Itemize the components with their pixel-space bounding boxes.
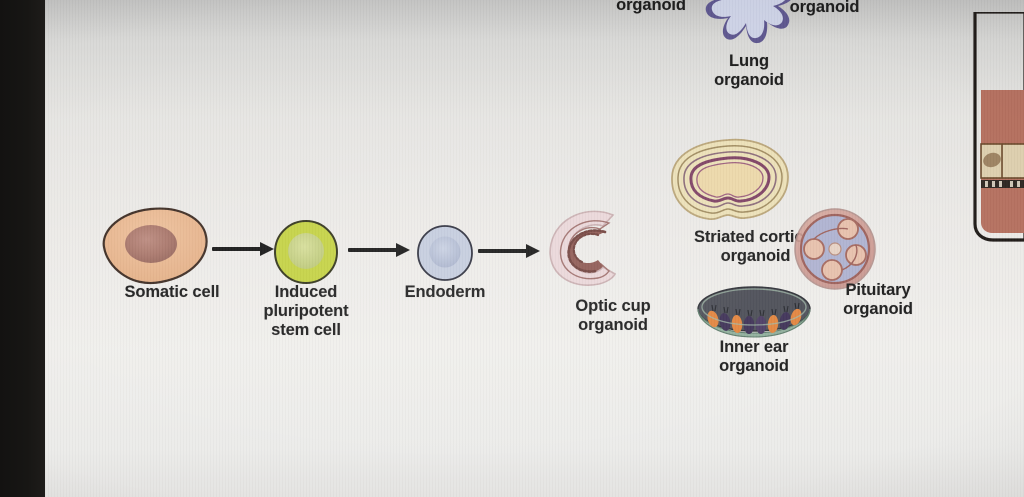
screenshot-root: organoid intestinal organoid Lung organo… [0, 0, 1024, 497]
endoderm-label: Endoderm [382, 283, 508, 302]
ipsc-label: Induced pluripotent stem cell [248, 283, 364, 340]
somatic-cell-icon [104, 209, 207, 283]
arrow-ipsc-to-endoderm [348, 243, 410, 257]
ipsc-figure [271, 217, 341, 287]
arrow-shaft [212, 247, 261, 251]
arrow-head [396, 243, 410, 257]
lung-organoid-icon [706, 0, 794, 43]
endoderm-icon [418, 226, 472, 280]
arrow-shaft [478, 249, 527, 253]
partial-organoid-label: organoid [596, 0, 706, 15]
striated-cortical-organoid-figure [665, 136, 795, 228]
somatic-cell-label: Somatic cell [92, 283, 252, 302]
arrow-head [526, 244, 540, 258]
inner-ear-organoid-icon [698, 287, 810, 337]
pituitary-organoid-figure [792, 206, 878, 292]
inner-ear-organoid-label: Inner ear organoid [684, 338, 824, 376]
ipsc-icon [275, 221, 337, 283]
optic-cup-organoid-label: Optic cup organoid [543, 297, 683, 335]
striated-cortical-organoid-icon [672, 140, 788, 219]
endoderm-figure [414, 222, 476, 284]
lung-organoid-label: Lung organoid [679, 52, 819, 90]
monitor-bezel-left [0, 0, 45, 497]
arrow-endoderm-to-organoids [478, 244, 540, 258]
optic-cup-organoid-icon [550, 211, 615, 285]
pituitary-organoid-icon [795, 209, 875, 289]
beaker-icon [975, 12, 1024, 240]
optic-cup-organoid-figure [541, 208, 631, 290]
arrow-somatic-to-ipsc [212, 242, 274, 256]
diagram-page: organoid intestinal organoid Lung organo… [45, 0, 1024, 497]
pituitary-organoid-label: Pituitary organoid [808, 281, 948, 319]
lung-organoid-figure [695, 0, 805, 54]
somatic-cell-figure [95, 203, 217, 293]
beaker-figure [969, 12, 1024, 244]
arrow-shaft [348, 248, 397, 252]
